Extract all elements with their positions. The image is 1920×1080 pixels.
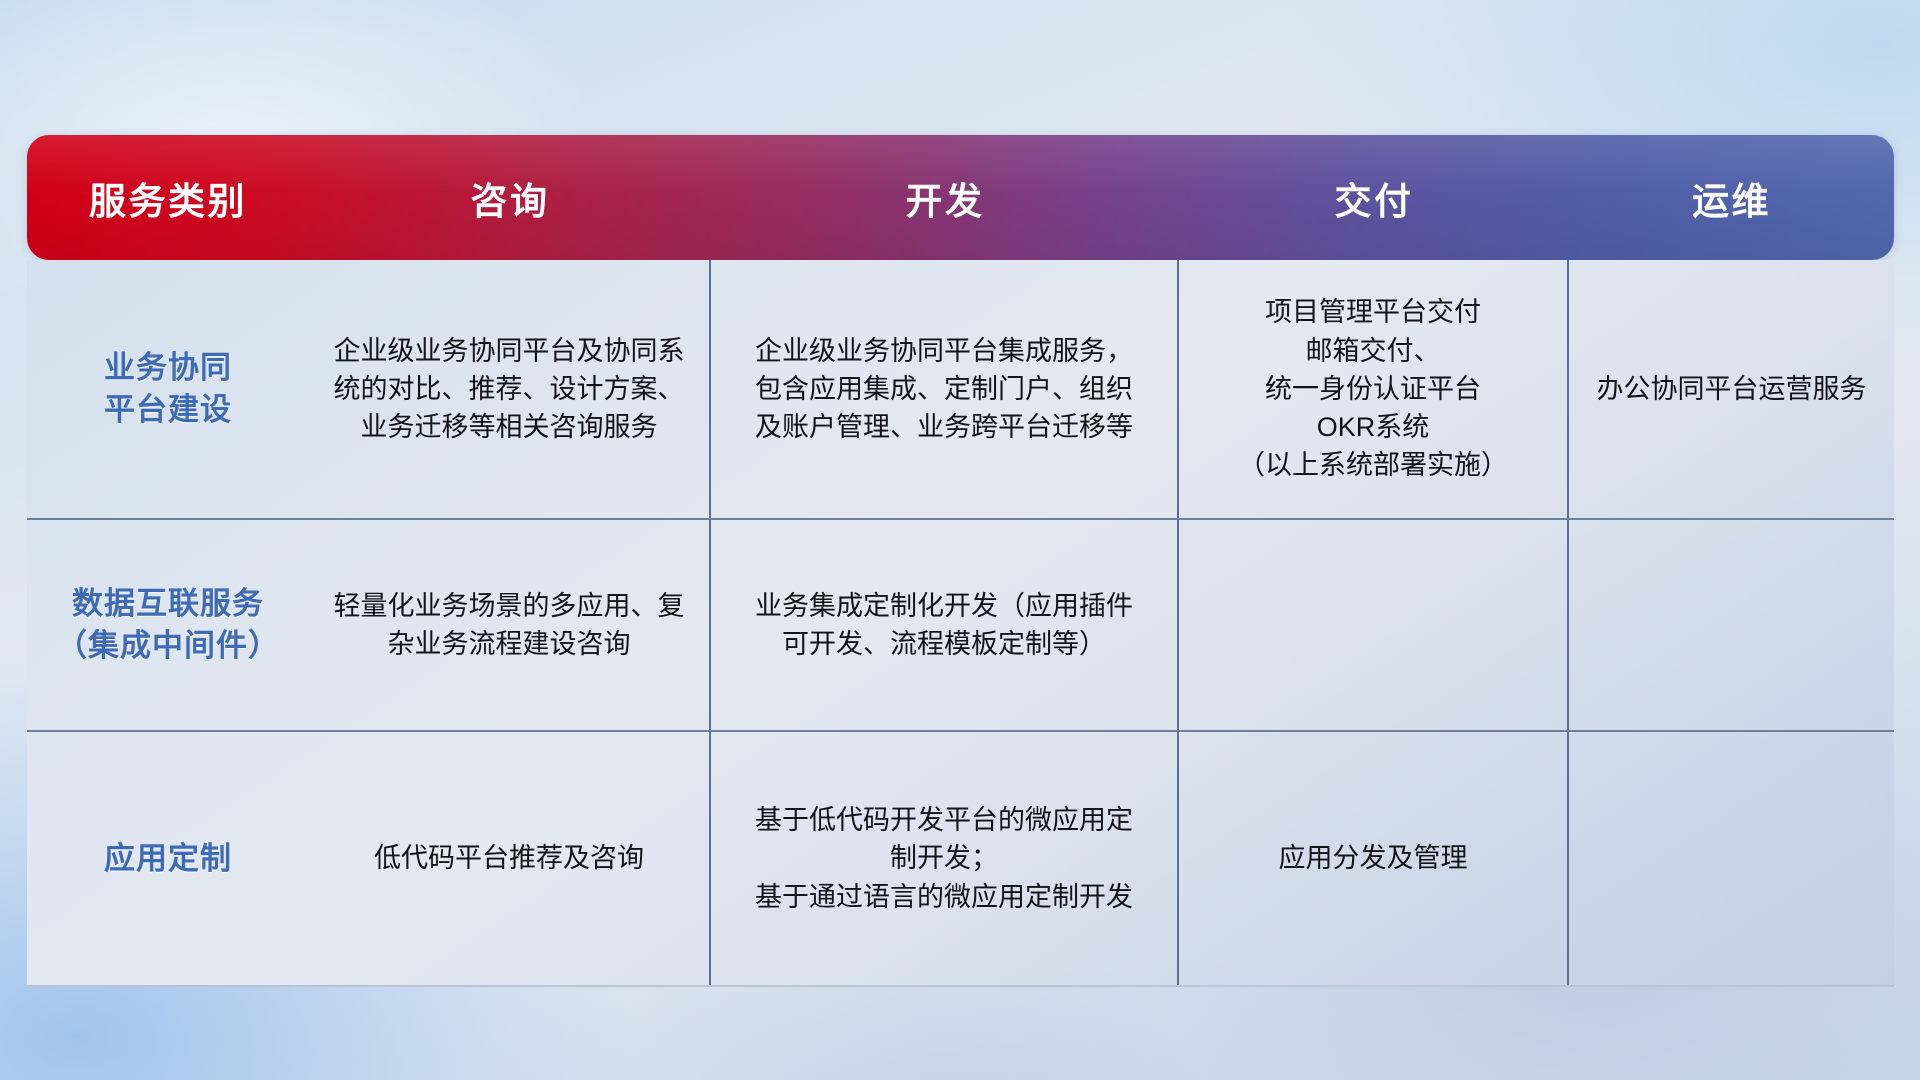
cell-consulting: 企业级业务协同平台及协同系 统的对比、推荐、设计方案、 业务迁移等相关咨询服务	[309, 260, 711, 518]
cell-development: 企业级业务协同平台集成服务， 包含应用集成、定制门户、组织 及账户管理、业务跨平…	[711, 260, 1179, 518]
cell-consulting: 轻量化业务场景的多应用、复 杂业务流程建设咨询	[309, 520, 711, 730]
table-row: 数据互联服务 （集成中间件） 轻量化业务场景的多应用、复 杂业务流程建设咨询 业…	[27, 520, 1894, 732]
cell-operations: 办公协同平台运营服务	[1569, 260, 1894, 518]
cell-development: 基于低代码开发平台的微应用定 制开发； 基于通过语言的微应用定制开发	[711, 732, 1179, 985]
service-matrix-table: 服务类别 咨询 开发 交付 运维 业务协同 平台建设 企业级业务协同平台及协同系…	[27, 135, 1894, 960]
cell-development: 业务集成定制化开发（应用插件 可开发、流程模板定制等）	[711, 520, 1179, 730]
cell-consulting: 低代码平台推荐及咨询	[309, 732, 711, 985]
table-row: 应用定制 低代码平台推荐及咨询 基于低代码开发平台的微应用定 制开发； 基于通过…	[27, 732, 1894, 985]
table-header-cell-consulting: 咨询	[309, 171, 711, 225]
cell-delivery: 项目管理平台交付 邮箱交付、 统一身份认证平台 OKR系统 （以上系统部署实施）	[1179, 260, 1569, 518]
row-category-label: 应用定制	[27, 732, 309, 985]
cell-operations	[1569, 520, 1894, 730]
row-category-label: 数据互联服务 （集成中间件）	[27, 520, 309, 730]
row-category-label: 业务协同 平台建设	[27, 260, 309, 518]
table-header-cell-operations: 运维	[1569, 171, 1894, 225]
table-row: 业务协同 平台建设 企业级业务协同平台及协同系 统的对比、推荐、设计方案、 业务…	[27, 260, 1894, 520]
table-header-cell-development: 开发	[711, 171, 1179, 225]
table-header-row: 服务类别 咨询 开发 交付 运维	[27, 135, 1894, 260]
table-header-cell-delivery: 交付	[1179, 171, 1569, 225]
cell-delivery: 应用分发及管理	[1179, 732, 1569, 985]
cell-operations	[1569, 732, 1894, 985]
cell-delivery	[1179, 520, 1569, 730]
table-body: 业务协同 平台建设 企业级业务协同平台及协同系 统的对比、推荐、设计方案、 业务…	[27, 260, 1894, 987]
table-header-cell-category: 服务类别	[27, 171, 309, 225]
